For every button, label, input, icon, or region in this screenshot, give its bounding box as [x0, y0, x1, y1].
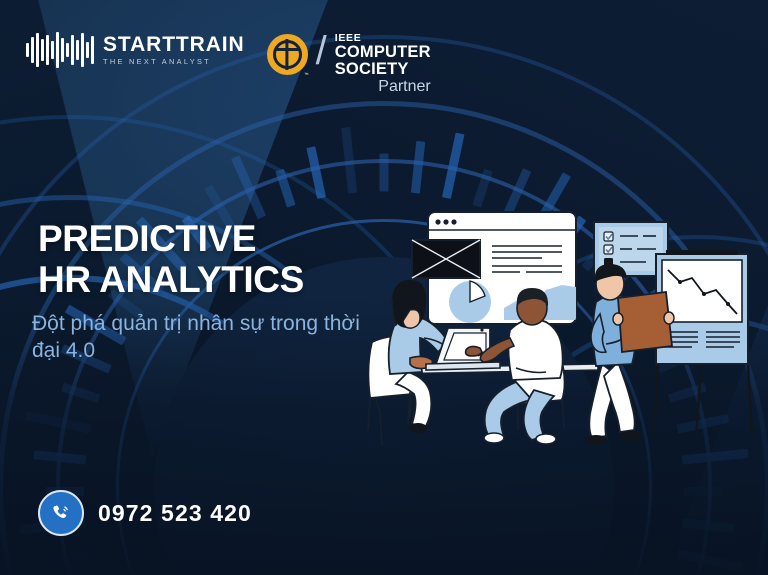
ieee-line-3: SOCIETY: [335, 61, 431, 78]
pie-chart-icon: [449, 281, 491, 323]
phone-number: 0972 523 420: [98, 500, 252, 527]
browser-window-icon: [412, 212, 576, 324]
ieee-separator: /: [316, 32, 327, 70]
logo-row: STARTTRAIN THE NEXT ANALYST ™ / IEEE COM…: [26, 32, 431, 96]
trademark-symbol: ™: [304, 72, 309, 77]
image-placeholder-x-icon: [412, 240, 480, 278]
starttrain-tagline: THE NEXT ANALYST: [103, 58, 245, 65]
headline-line-1: PREDICTIVE: [38, 218, 304, 259]
team-analytics-illustration: [366, 186, 762, 451]
ieee-partner-label: Partner: [335, 79, 431, 96]
audio-bars-icon: [26, 32, 94, 68]
subtitle: Đột phá quản trị nhân sự trong thời đại …: [32, 310, 362, 365]
ieee-line-2: COMPUTER: [335, 44, 431, 61]
starttrain-logo: STARTTRAIN THE NEXT ANALYST: [26, 32, 245, 68]
poster-canvas: STARTTRAIN THE NEXT ANALYST ™ / IEEE COM…: [0, 0, 768, 575]
phone-call-icon[interactable]: [38, 490, 84, 536]
window-dots-icon: [435, 219, 456, 224]
ieee-computer-society-logo: ™ / IEEE COMPUTER SOCIETY Partner: [267, 32, 431, 96]
headline-line-2: HR ANALYTICS: [38, 259, 304, 300]
contact-phone[interactable]: 0972 523 420: [38, 490, 252, 536]
page-title: PREDICTIVE HR ANALYTICS: [38, 218, 304, 301]
starttrain-name: STARTTRAIN: [103, 34, 245, 55]
ieee-cs-emblem-icon: ™: [267, 34, 308, 75]
